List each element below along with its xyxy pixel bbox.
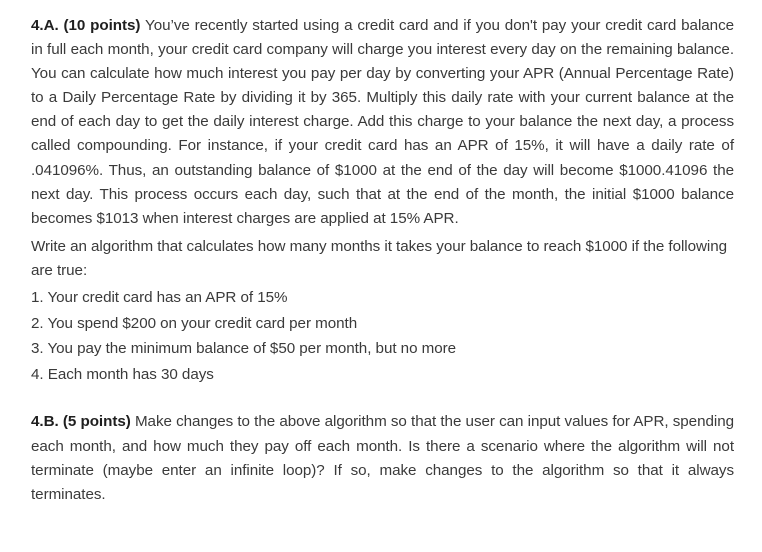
question-4a-prompt: Write an algorithm that calculates how m… <box>31 235 734 283</box>
section-spacer <box>31 387 734 410</box>
question-4b: 4.B. (5 points) Make changes to the abov… <box>31 410 734 506</box>
document-page: 4.A. (10 points) You’ve recently started… <box>0 0 762 552</box>
list-item: 4. Each month has 30 days <box>31 362 734 388</box>
question-4a-body: You’ve recently started using a credit c… <box>31 17 734 227</box>
list-item: 2. You spend $200 on your credit card pe… <box>31 311 734 337</box>
list-item: 1. Your credit card has an APR of 15% <box>31 285 734 311</box>
list-item: 3. You pay the minimum balance of $50 pe… <box>31 336 734 362</box>
question-4a-label: 4.A. (10 points) <box>31 17 140 34</box>
question-4b-paragraph: 4.B. (5 points) Make changes to the abov… <box>31 410 734 506</box>
question-4a-paragraph: 4.A. (10 points) You’ve recently started… <box>31 14 734 231</box>
question-4b-body: Make changes to the above algorithm so t… <box>31 413 734 502</box>
question-4a: 4.A. (10 points) You’ve recently started… <box>31 14 734 387</box>
question-4b-label: 4.B. (5 points) <box>31 413 131 430</box>
question-4a-conditions-list: 1. Your credit card has an APR of 15% 2.… <box>31 285 734 387</box>
